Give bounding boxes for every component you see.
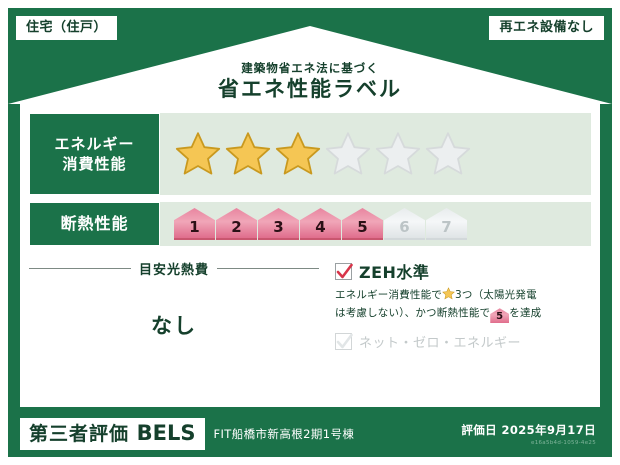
- star-filled-icon: [224, 130, 272, 178]
- grade-badge-inactive: 6: [384, 208, 425, 240]
- label-footer: 第三者評価 BELS FIT船橋市新高根2期1号棟 評価日 2025年9月17日…: [20, 413, 600, 455]
- grade-badge-active: 3: [258, 208, 299, 240]
- zeh-desc-part3: を達成: [509, 307, 541, 319]
- utility-cost-heading-text: 目安光熱費: [131, 259, 217, 278]
- grade-badge-active: 5: [342, 208, 383, 240]
- zeh-checkbox[interactable]: [335, 263, 352, 280]
- energy-label-line1: エネルギー: [54, 134, 134, 154]
- checkmark-icon-disabled: [335, 332, 354, 351]
- grade-badge-active: 4: [300, 208, 341, 240]
- evaluation-id: e16a5b4d-1059-4e25: [461, 440, 596, 446]
- label-body: エネルギー 消費性能 断熱性能 1234567 目安光熱費: [20, 104, 600, 407]
- grade-badge-active: 1: [174, 208, 215, 240]
- evaluation-date: 評価日 2025年9月17日: [461, 422, 596, 438]
- title-block: 建築物省エネ法に基づく 省エネ性能ラベル: [8, 62, 612, 102]
- grade-row: 1234567: [174, 208, 467, 240]
- zeh-desc-stars: 3つ（太陽光発電: [455, 289, 537, 301]
- building-type-tag: 住宅（住戸）: [16, 16, 117, 40]
- star-empty-icon: [424, 130, 472, 178]
- energy-performance-label-box: エネルギー 消費性能: [29, 113, 160, 195]
- lower-section: 目安光熱費 なし ZEH水準 エネルギー消費性能で: [29, 253, 591, 405]
- bels-word: BELS: [137, 421, 196, 445]
- zeh-heading-row: ZEH水準: [335, 259, 587, 283]
- star-filled-icon: [174, 130, 222, 178]
- zeh-desc-part2: は考慮しない）、かつ断熱性能で: [335, 307, 490, 319]
- label-header: 住宅（住戸） 再エネ設備なし 建築物省エネ法に基づく 省エネ性能ラベル: [8, 8, 612, 104]
- insulation-grade-scale: 1234567: [160, 202, 591, 246]
- insulation-performance-row: 断熱性能 1234567: [29, 202, 591, 246]
- renewable-energy-tag: 再エネ設備なし: [489, 16, 604, 40]
- bels-prefix: 第三者評価: [29, 423, 129, 445]
- utility-cost-value: なし: [151, 310, 197, 340]
- star-empty-icon: [374, 130, 422, 178]
- utility-cost-heading: 目安光熱費: [29, 259, 319, 278]
- energy-performance-row: エネルギー 消費性能: [29, 113, 591, 195]
- utility-cost-column: 目安光熱費 なし: [29, 253, 319, 405]
- zeh-desc-part1: エネルギー消費性能で: [335, 289, 442, 301]
- inline-grade-badge: 5: [490, 308, 509, 323]
- net-zero-energy-label: ネット・ゼロ・エネルギー: [359, 332, 521, 351]
- footer-right-block: 評価日 2025年9月17日 e16a5b4d-1059-4e25: [461, 422, 600, 446]
- net-zero-energy-row: ネット・ゼロ・エネルギー: [335, 332, 587, 351]
- star-empty-icon: [324, 130, 372, 178]
- insulation-label-box: 断熱性能: [29, 202, 160, 246]
- inline-star-icon: [442, 287, 455, 305]
- star-row: [174, 130, 472, 178]
- title-main: 省エネ性能ラベル: [8, 76, 612, 102]
- zeh-description: エネルギー消費性能で 3つ（太陽光発電 は考慮しない）、かつ断熱性能で5を達成: [335, 287, 585, 323]
- net-zero-energy-checkbox[interactable]: [335, 333, 352, 350]
- grade-badge-active: 2: [216, 208, 257, 240]
- zeh-column: ZEH水準 エネルギー消費性能で 3つ（太陽光発電 は考慮しない）、かつ断熱性能…: [319, 253, 591, 405]
- zeh-title: ZEH水準: [359, 259, 429, 283]
- label-frame: 住宅（住戸） 再エネ設備なし 建築物省エネ法に基づく 省エネ性能ラベル エネルギ…: [8, 8, 612, 457]
- energy-star-rating: [160, 113, 591, 195]
- energy-performance-label: 住宅（住戸） 再エネ設備なし 建築物省エネ法に基づく 省エネ性能ラベル エネルギ…: [0, 0, 620, 465]
- title-subtitle: 建築物省エネ法に基づく: [8, 62, 612, 76]
- grade-badge-inactive: 7: [426, 208, 467, 240]
- building-name: FIT船橋市新高根2期1号棟: [214, 426, 355, 442]
- checkmark-icon: [335, 262, 354, 281]
- star-filled-icon: [274, 130, 322, 178]
- energy-label-line2: 消費性能: [62, 154, 126, 174]
- bels-badge: 第三者評価 BELS: [20, 418, 205, 450]
